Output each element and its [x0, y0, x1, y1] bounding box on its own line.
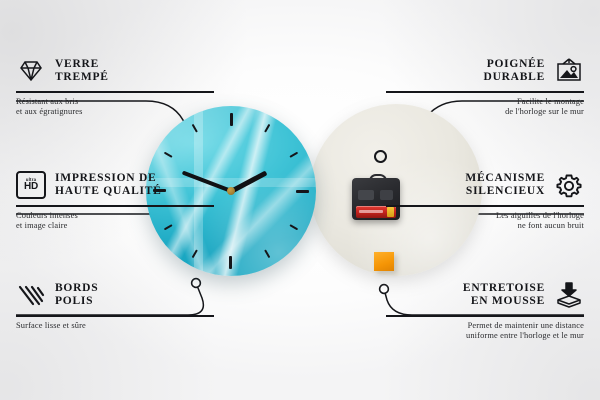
- clock-center-cap: [227, 187, 235, 195]
- feature-poignee-durable: POIGNÉE DURABLE Facilite le montage de l…: [386, 56, 584, 117]
- feature-title: MÉCANISME SILENCIEUX: [465, 172, 545, 199]
- ultra-hd-bottom-text: HD: [24, 182, 38, 192]
- feature-mecanisme-silencieux: MÉCANISME SILENCIEUX Les aiguilles de l'…: [386, 170, 584, 231]
- feature-description: Les aiguilles de l'horloge ne font aucun…: [386, 211, 584, 232]
- feature-divider: [16, 91, 214, 93]
- gear-icon: [554, 170, 584, 200]
- feature-divider: [386, 91, 584, 93]
- feature-divider: [16, 315, 214, 317]
- feature-impression-haute-qualite: ultra HD IMPRESSION DE HAUTE QUALITÉ Cou…: [16, 170, 214, 231]
- feature-bords-polis: BORDS POLIS Surface lisse et sûre: [16, 280, 214, 331]
- battery-label-stripe: [359, 210, 383, 213]
- feature-description: Résistant aux bris et aux égratignures: [16, 97, 214, 118]
- feature-title: POIGNÉE DURABLE: [484, 58, 545, 85]
- framed-picture-hanging-icon: [554, 56, 584, 86]
- feature-title: BORDS POLIS: [55, 282, 98, 309]
- diagonal-stripes-icon: [16, 280, 46, 310]
- feature-description: Couleurs intenses et image claire: [16, 211, 214, 232]
- feature-verre-trempe: VERRE TREMPÉ Résistant aux bris et aux é…: [16, 56, 214, 117]
- feature-title: VERRE TREMPÉ: [55, 58, 109, 85]
- feature-divider: [386, 205, 584, 207]
- feature-title: ENTRETOISE EN MOUSSE: [463, 282, 545, 309]
- feature-divider: [16, 205, 214, 207]
- feature-divider: [386, 315, 584, 317]
- mechanism-panel-left: [358, 190, 374, 200]
- feature-entretoise-en-mousse: ENTRETOISE EN MOUSSE Permet de maintenir…: [386, 280, 584, 341]
- ultra-hd-icon: ultra HD: [16, 170, 46, 200]
- feature-description: Surface lisse et sûre: [16, 321, 214, 331]
- feature-title: IMPRESSION DE HAUTE QUALITÉ: [55, 172, 162, 199]
- hanger-hole: [374, 150, 387, 163]
- feature-description: Permet de maintenir une distance uniform…: [386, 321, 584, 342]
- arrow-press-foam-icon: [554, 280, 584, 310]
- foam-spacer: [374, 252, 394, 271]
- infographic-canvas: VERRE TREMPÉ Résistant aux bris et aux é…: [0, 0, 600, 400]
- feature-description: Facilite le montage de l'horloge sur le …: [386, 97, 584, 118]
- diamond-icon: [16, 56, 46, 86]
